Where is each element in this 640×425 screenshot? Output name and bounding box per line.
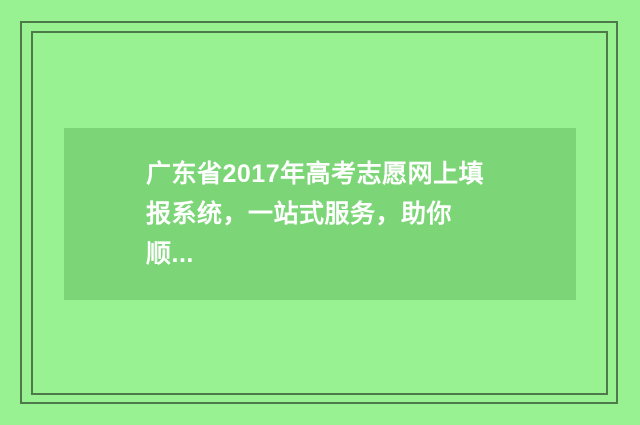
- poster-canvas: 广东省2017年高考志愿网上填报系统，一站式服务，助你顺...: [0, 0, 640, 425]
- caption-overlay-panel: 广东省2017年高考志愿网上填报系统，一站式服务，助你顺...: [64, 128, 576, 300]
- caption-headline-text: 广东省2017年高考志愿网上填报系统，一站式服务，助你顺...: [146, 154, 486, 274]
